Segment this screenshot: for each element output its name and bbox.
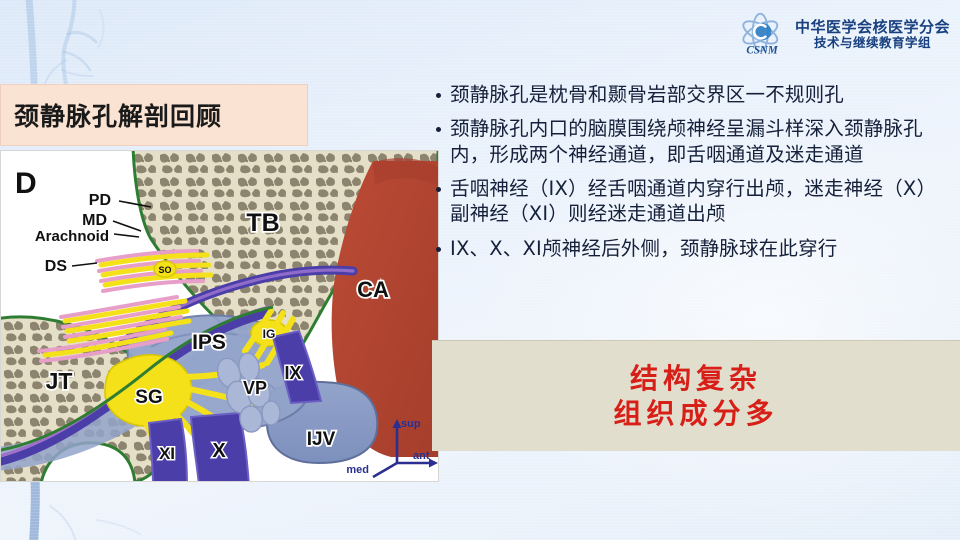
highlight-line-1: 结构复杂 — [630, 361, 762, 396]
jugular-foramen-diagram: D PD MD Arachnoid DS SO TB CA IG SG IPS … — [1, 151, 438, 481]
slide-title-box: 颈静脉孔解剖回顾 — [0, 84, 308, 146]
figure-panel-label: D — [15, 167, 37, 200]
label-ca: CA — [357, 277, 389, 302]
bullet-dot-icon — [436, 127, 441, 132]
bullet-item: 颈静脉孔内口的脑膜围绕颅神经呈漏斗样深入颈静脉孔内，形成两个神经通道，即舌咽通道… — [432, 116, 948, 167]
label-so: SO — [158, 265, 171, 275]
bullet-dot-icon — [436, 247, 441, 252]
svg-text:CSNM: CSNM — [746, 45, 779, 57]
csnm-atom-icon: CSNM — [736, 12, 788, 58]
label-ips: IPS — [192, 331, 226, 354]
label-ds: DS — [45, 258, 68, 275]
label-ijv: IJV — [307, 429, 336, 450]
bullet-item: 舌咽神经（IX）经舌咽通道内穿行出颅，迷走神经（X）副神经（XI）则经迷走通道出… — [432, 176, 948, 227]
label-x: X — [212, 440, 226, 462]
label-tb: TB — [246, 209, 279, 237]
label-md: MD — [82, 212, 107, 229]
axis-label-sup: sup — [401, 418, 421, 430]
label-arachnoid: Arachnoid — [35, 228, 109, 245]
page-title: 颈静脉孔解剖回顾 — [0, 97, 222, 133]
label-vp: VP — [243, 378, 267, 398]
label-ix: IX — [284, 363, 301, 383]
bullet-item: IX、X、XI颅神经后外侧，颈静脉球在此穿行 — [432, 236, 948, 261]
anatomy-figure-panel: D PD MD Arachnoid DS SO TB CA IG SG IPS … — [0, 150, 439, 482]
label-jt: JT — [46, 368, 73, 394]
highlight-callout-box: 结构复杂 组织成分多 — [432, 340, 960, 451]
label-xi: XI — [159, 444, 175, 463]
bullet-dot-icon — [436, 93, 441, 98]
bullet-text: 颈静脉孔是枕骨和颞骨岩部交界区一不规则孔 — [450, 82, 844, 107]
highlight-line-2: 组织成分多 — [613, 396, 778, 431]
bullet-text: 颈静脉孔内口的脑膜围绕颅神经呈漏斗样深入颈静脉孔内，形成两个神经通道，即舌咽通道… — [450, 116, 948, 167]
bullet-text: IX、X、XI颅神经后外侧，颈静脉球在此穿行 — [450, 236, 837, 261]
logo-line-1: 中华医学会核医学分会 — [795, 19, 950, 37]
label-ig: IG — [263, 327, 276, 341]
bullet-dot-icon — [436, 187, 441, 192]
label-sg: SG — [135, 387, 162, 408]
slide: CSNM 中华医学会核医学分会 技术与继续教育学组 颈静脉孔解剖回顾 — [0, 0, 960, 540]
bullet-text: 舌咽神经（IX）经舌咽通道内穿行出颅，迷走神经（X）副神经（XI）则经迷走通道出… — [450, 176, 948, 227]
logo-line-2: 技术与继续教育学组 — [795, 36, 950, 51]
label-pd: PD — [89, 192, 111, 209]
society-logo: CSNM 中华医学会核医学分会 技术与继续教育学组 — [736, 12, 950, 58]
axis-label-med: med — [346, 464, 369, 476]
axis-label-ant: ant — [413, 450, 430, 462]
bullet-item: 颈静脉孔是枕骨和颞骨岩部交界区一不规则孔 — [432, 82, 948, 107]
bullet-list: 颈静脉孔是枕骨和颞骨岩部交界区一不规则孔 颈静脉孔内口的脑膜围绕颅神经呈漏斗样深… — [432, 82, 948, 270]
